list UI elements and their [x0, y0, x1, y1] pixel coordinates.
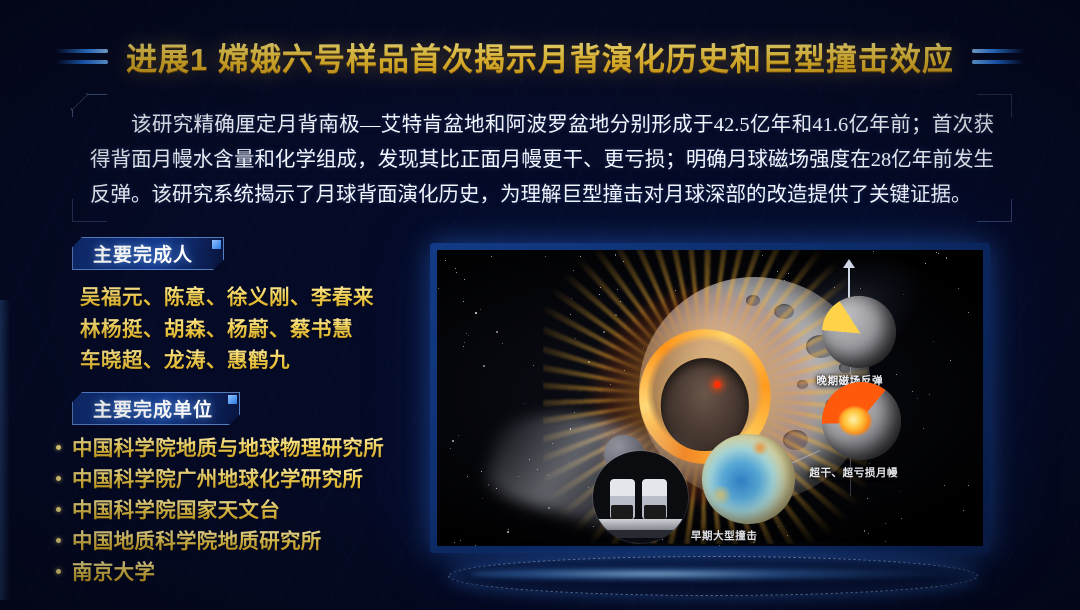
lunar-sample-photo [593, 451, 689, 543]
figure-label-dry-depleted-mantle: 超干、超亏损月幔 [809, 465, 898, 480]
list-item: 中国科学院国家天文台 [56, 496, 456, 527]
people-line: 林杨挺、胡森、杨蔚、蔡书慧 [80, 314, 450, 346]
unit-label: 中国科学院广州地球化学研究所 [72, 465, 363, 495]
section-header-units: 主要完成单位 [72, 392, 240, 425]
bullet-icon [56, 476, 61, 481]
left-edge-glow [0, 300, 10, 600]
unit-label: 中国科学院国家天文台 [72, 496, 280, 526]
units-list: 中国科学院地质与地球物理研究所 中国科学院广州地球化学研究所 中国科学院国家天文… [56, 434, 456, 589]
summary-paragraph: 该研究精确厘定月背南极—艾特肯盆地和阿波罗盆地分别形成于42.5亿年和41.6亿… [90, 108, 994, 213]
list-item: 中国地质科学院地质研究所 [56, 527, 456, 558]
title-decoration-left-icon [56, 49, 108, 64]
title-row: 进展1 嫦娥六号样品首次揭示月背演化历史和巨型撞击效应 [0, 30, 1080, 82]
people-list: 吴福元、陈意、徐义刚、李春来 林杨挺、胡森、杨蔚、蔡书慧 车晓超、龙涛、惠鹤九 [80, 282, 450, 377]
figure-label-early-large-impact: 早期大型撞击 [691, 528, 758, 543]
list-item: 中国科学院广州地球化学研究所 [56, 465, 456, 496]
list-item: 中国科学院地质与地球物理研究所 [56, 434, 456, 465]
cutaway-moon-magnetic [822, 296, 896, 369]
badge-corner-tick-icon [212, 240, 221, 249]
gravity-map-moon [702, 434, 795, 524]
figure-screen: 晚期磁场反弹 超干、超亏损月幔 早期大型撞击 嫦娥六号月壤 [430, 243, 990, 553]
slide-root: 进展1 嫦娥六号样品首次揭示月背演化历史和巨型撞击效应 该研究精确厘定月背南极—… [0, 0, 1080, 610]
screen-frame: 晚期磁场反弹 超干、超亏损月幔 早期大型撞击 嫦娥六号月壤 [430, 243, 990, 553]
section-header-people: 主要完成人 [72, 237, 224, 270]
cutaway-moon-mantle [822, 382, 901, 460]
people-line: 吴福元、陈意、徐义刚、李春来 [80, 282, 450, 314]
list-item: 南京大学 [56, 558, 456, 589]
impact-hotspot [714, 381, 721, 388]
title-decoration-right-icon [972, 49, 1024, 64]
summary-card: 该研究精确厘定月背南极—艾特肯盆地和阿波罗盆地分别形成于42.5亿年和41.6亿… [72, 94, 1012, 222]
badge-corner-tick-icon [228, 395, 237, 404]
unit-label: 南京大学 [72, 558, 155, 588]
bullet-icon [56, 569, 61, 574]
screen-content: 晚期磁场反弹 超干、超亏损月幔 早期大型撞击 嫦娥六号月壤 [437, 250, 983, 546]
monitor-base-glow [470, 566, 956, 582]
unit-label: 中国科学院地质与地球物理研究所 [72, 434, 384, 464]
page-title: 进展1 嫦娥六号样品首次揭示月背演化历史和巨型撞击效应 [126, 34, 954, 79]
bullet-icon [56, 507, 61, 512]
unit-label: 中国地质科学院地质研究所 [72, 527, 322, 557]
bullet-icon [56, 445, 61, 450]
people-line: 车晓超、龙涛、惠鹤九 [80, 345, 450, 377]
bullet-icon [56, 538, 61, 543]
